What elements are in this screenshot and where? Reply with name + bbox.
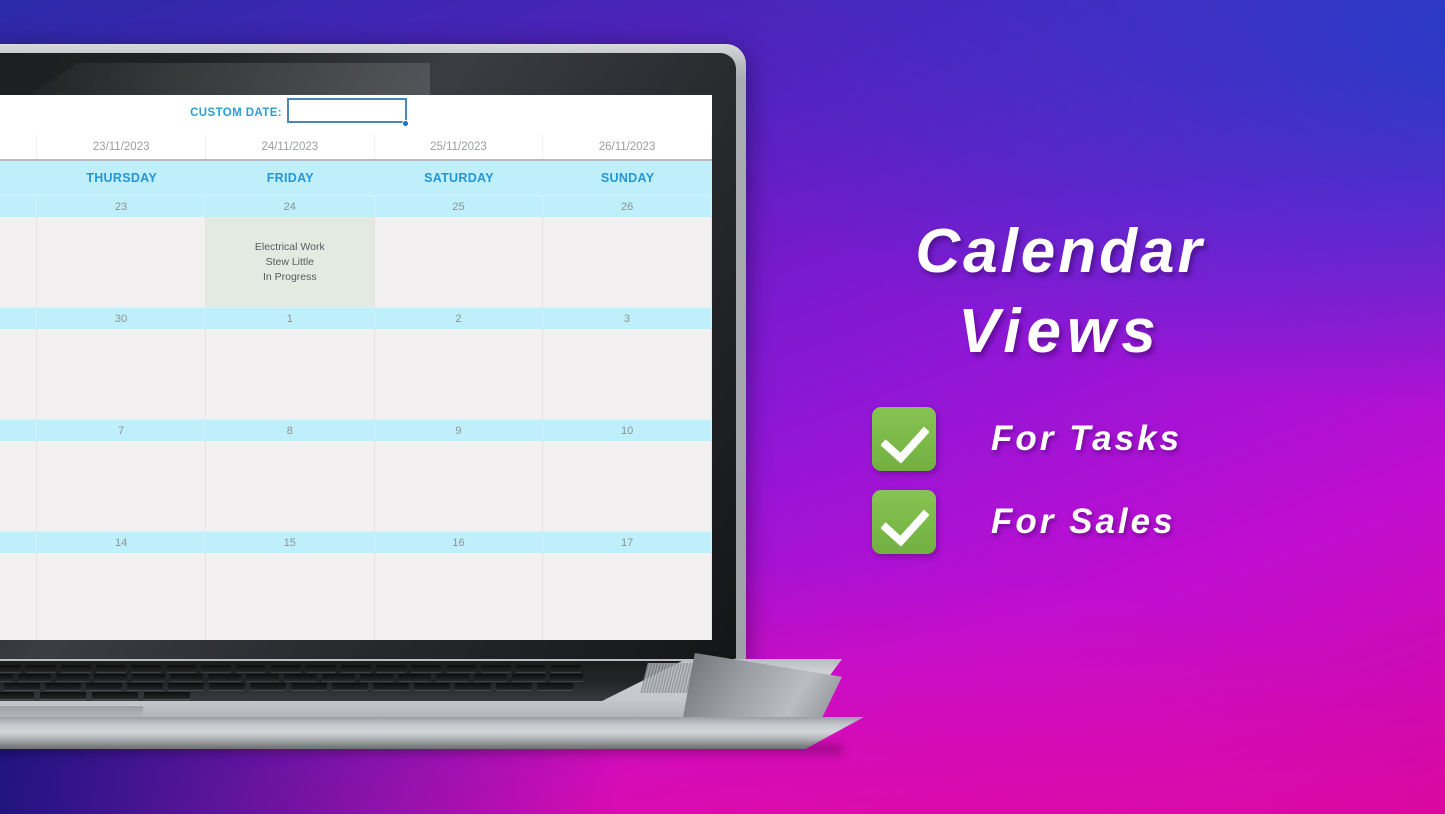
calendar-day-cell[interactable] <box>37 329 206 419</box>
custom-date-bar: CUSTOM DATE: <box>0 95 712 135</box>
calendar-day-cell[interactable] <box>543 329 712 419</box>
calendar-day-number[interactable]: 10 <box>543 420 712 441</box>
calendar-day-number[interactable]: 25 <box>375 196 544 217</box>
keyboard-key <box>4 683 40 690</box>
calendar-day-cell[interactable]: Electrical WorkStew LittleIn Progress <box>206 217 375 307</box>
calendar-day-number[interactable]: 22 <box>0 196 37 217</box>
calendar-day-number[interactable]: 8 <box>206 420 375 441</box>
calendar-day-number[interactable]: 23 <box>37 196 206 217</box>
keyboard-key <box>201 665 231 672</box>
keyboard-row <box>0 674 636 682</box>
keyboard-key <box>411 665 441 672</box>
calendar-day-number[interactable]: 14 <box>37 532 206 553</box>
keyboard-key <box>56 674 89 681</box>
keyboard-key <box>26 665 56 672</box>
keyboard-key <box>86 683 122 690</box>
keyboard-key <box>131 665 161 672</box>
calendar-day-cell[interactable] <box>543 217 712 307</box>
keyboard-row <box>0 665 636 673</box>
keyboard-key <box>373 683 409 690</box>
calendar-day-cell[interactable] <box>375 329 544 419</box>
keyboard-key <box>132 674 165 681</box>
keyboard-key <box>246 674 279 681</box>
keyboard-key <box>481 665 511 672</box>
keyboard-key <box>360 674 393 681</box>
calendar-week-body <box>0 329 712 419</box>
keyboard-deck <box>0 661 682 701</box>
calendar-daynum-row: 282930123 <box>0 307 712 329</box>
calendar-day-cell[interactable] <box>206 329 375 419</box>
calendar-week-body: Electrical WorkStew LittleIn Progress <box>0 217 712 307</box>
promo-title: Calendar Views <box>860 212 1260 372</box>
check-icon <box>872 407 936 471</box>
calendar-day-cell[interactable] <box>206 441 375 531</box>
calendar-weekday-header: THURSDAY <box>37 161 206 195</box>
calendar-day-cell[interactable] <box>37 553 206 640</box>
custom-date-input[interactable] <box>287 98 407 123</box>
calendar-day-number[interactable]: 13 <box>0 532 37 553</box>
keyboard-key <box>61 665 91 672</box>
calendar-day-number[interactable]: 15 <box>206 532 375 553</box>
keyboard-row <box>0 692 636 700</box>
calendar-date-cell[interactable]: 24/11/2023 <box>206 135 375 159</box>
calendar-day-cell[interactable] <box>206 553 375 640</box>
keyboard-key <box>94 674 127 681</box>
keyboard-key <box>341 665 371 672</box>
keyboard-key <box>284 674 317 681</box>
keyboard-key <box>236 665 266 672</box>
check-icon <box>872 490 936 554</box>
calendar-day-cell[interactable] <box>0 329 37 419</box>
keyboard-key <box>271 665 301 672</box>
laptop-shadow <box>0 745 842 759</box>
calendar-day-number[interactable]: 16 <box>375 532 544 553</box>
keyboard-keys <box>0 665 636 699</box>
keyboard-key <box>550 674 583 681</box>
keyboard-key <box>398 674 431 681</box>
keyboard-key <box>0 665 21 672</box>
keyboard-key <box>127 683 163 690</box>
calendar-day-number[interactable]: 26 <box>543 196 712 217</box>
custom-date-label: CUSTOM DATE: <box>190 107 282 119</box>
promo-panel: Calendar Views For Tasks For Sales <box>860 0 1445 814</box>
promo-bullet-label: For Tasks <box>991 419 1182 459</box>
calendar-day-number[interactable]: 1 <box>206 308 375 329</box>
calendar-day-number[interactable]: 30 <box>37 308 206 329</box>
calendar-day-cell[interactable] <box>375 441 544 531</box>
keyboard-key <box>96 665 126 672</box>
calendar-day-cell[interactable] <box>0 441 37 531</box>
keyboard-key <box>291 683 327 690</box>
keyboard-key <box>208 674 241 681</box>
calendar-event: Electrical WorkStew LittleIn Progress <box>255 240 325 285</box>
keyboard-key <box>446 665 476 672</box>
keyboard-key <box>414 683 450 690</box>
calendar-weekday-header: FRIDAY <box>206 161 375 195</box>
keyboard-key <box>209 683 245 690</box>
laptop-screen: CUSTOM DATE: 21/11/202322/11/202323/11/2… <box>0 95 712 640</box>
keyboard-row <box>0 683 636 691</box>
calendar-event-client: Stew Little <box>255 255 325 270</box>
calendar-day-cell[interactable] <box>0 553 37 640</box>
calendar-day-number[interactable]: 29 <box>0 308 37 329</box>
calendar-date-cell[interactable]: 26/11/2023 <box>543 135 712 159</box>
calendar-daynum-row: 212223242526 <box>0 195 712 217</box>
calendar-event-title: Electrical Work <box>255 240 325 255</box>
calendar-day-cell[interactable] <box>37 217 206 307</box>
calendar-event-status: In Progress <box>255 270 325 285</box>
calendar-day-cell[interactable] <box>543 441 712 531</box>
calendar-day-number[interactable]: 17 <box>543 532 712 553</box>
calendar-week-body <box>0 441 712 531</box>
keyboard-key <box>0 674 13 681</box>
calendar-day-number[interactable]: 7 <box>37 420 206 441</box>
calendar-day-number[interactable]: 2 <box>375 308 544 329</box>
calendar-date-cell[interactable]: 23/11/2023 <box>37 135 206 159</box>
keyboard-key <box>0 692 34 699</box>
keyboard-key <box>45 683 81 690</box>
keyboard-key <box>512 674 545 681</box>
calendar-date-row: 21/11/202322/11/202323/11/202324/11/2023… <box>0 135 712 161</box>
calendar-day-number[interactable]: 3 <box>543 308 712 329</box>
keyboard-key <box>144 692 190 699</box>
calendar-date-cell[interactable]: 25/11/2023 <box>375 135 544 159</box>
keyboard-key <box>455 683 491 690</box>
promo-title-line1: Calendar <box>915 217 1204 286</box>
calendar-day-cell[interactable] <box>37 441 206 531</box>
keyboard-key <box>474 674 507 681</box>
keyboard-key <box>168 683 204 690</box>
calendar-day-number[interactable]: 24 <box>206 196 375 217</box>
keyboard-key <box>322 674 355 681</box>
calendar-week-body <box>0 553 712 640</box>
calendar-grid: 21/11/202322/11/202323/11/202324/11/2023… <box>0 135 712 640</box>
keyboard-key <box>376 665 406 672</box>
promo-title-line2: Views <box>860 292 1260 372</box>
calendar-day-cell[interactable] <box>543 553 712 640</box>
keyboard-key <box>516 665 546 672</box>
calendar-weekday-header: SATURDAY <box>375 161 544 195</box>
keyboard-key <box>40 692 86 699</box>
calendar-daynum-row: 121314151617 <box>0 531 712 553</box>
keyboard-key <box>551 665 581 672</box>
calendar-weekday-row: TUESDAYWEDNESDAYTHURSDAYFRIDAYSATURDAYSU… <box>0 161 712 195</box>
spreadsheet-app: CUSTOM DATE: 21/11/202322/11/202323/11/2… <box>0 95 712 640</box>
keyboard-key <box>537 683 573 690</box>
laptop-mockup: CUSTOM DATE: 21/11/202322/11/202323/11/2… <box>0 44 760 756</box>
calendar-day-cell[interactable] <box>0 217 37 307</box>
keyboard-key <box>166 665 196 672</box>
keyboard-key <box>306 665 336 672</box>
calendar-day-number[interactable]: 9 <box>375 420 544 441</box>
calendar-daynum-row: 5678910 <box>0 419 712 441</box>
promo-bullet-label: For Sales <box>991 502 1176 542</box>
keyboard-key <box>170 674 203 681</box>
keyboard-key <box>332 683 368 690</box>
calendar-weekday-header: WEDNESDAY <box>0 161 37 195</box>
keyboard-key <box>496 683 532 690</box>
keyboard-key <box>436 674 469 681</box>
keyboard-key <box>92 692 138 699</box>
calendar-weekday-header: SUNDAY <box>543 161 712 195</box>
promo-bullet-sales: For Sales <box>872 490 1176 554</box>
keyboard-key <box>18 674 51 681</box>
calendar-day-cell[interactable] <box>375 217 544 307</box>
keyboard-key <box>250 683 286 690</box>
calendar-date-cell[interactable]: 22/11/2023 <box>0 135 37 159</box>
calendar-day-cell[interactable] <box>375 553 544 640</box>
promo-bullet-tasks: For Tasks <box>872 407 1182 471</box>
laptop-base <box>0 659 882 764</box>
cell-fill-handle[interactable] <box>402 120 409 127</box>
calendar-day-number[interactable]: 6 <box>0 420 37 441</box>
